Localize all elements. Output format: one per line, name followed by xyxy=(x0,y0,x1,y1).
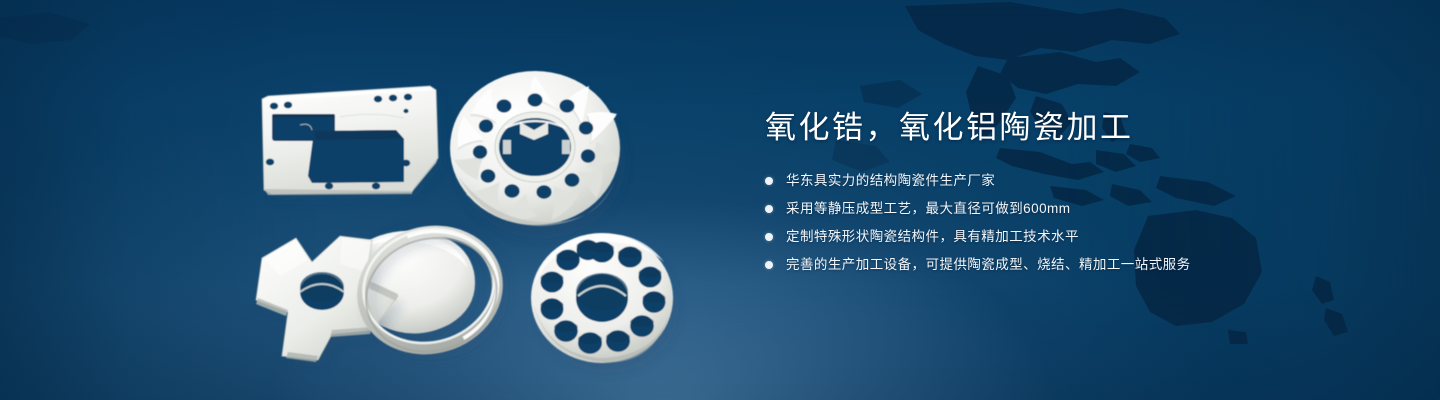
ceramic-flat-plate xyxy=(262,86,443,201)
list-item-label: 采用等静压成型工艺，最大直径可做到600mm xyxy=(786,201,1070,216)
list-item-label: 完善的生产加工设备，可提供陶瓷成型、烧结、精加工一站式服务 xyxy=(786,257,1191,272)
bullet-dot-icon xyxy=(765,233,773,241)
ceramic-parts-group xyxy=(0,0,740,400)
ceramic-hole-ring-plate xyxy=(531,233,680,375)
page-title: 氧化锆，氧化铝陶瓷加工 xyxy=(765,108,1365,148)
list-item-label: 定制特殊形状陶瓷结构件，具有精加工技术水平 xyxy=(786,229,1079,244)
list-item: 定制特殊形状陶瓷结构件，具有精加工技术水平 xyxy=(765,226,1365,248)
list-item: 完善的生产加工设备，可提供陶瓷成型、烧结、精加工一站式服务 xyxy=(765,254,1365,276)
list-item: 采用等静压成型工艺，最大直径可做到600mm xyxy=(765,198,1365,220)
feature-list: 华东具实力的结构陶瓷件生产厂家 采用等静压成型工艺，最大直径可做到600mm 定… xyxy=(765,170,1365,276)
bullet-dot-icon xyxy=(765,177,773,185)
ceramic-impeller-disc xyxy=(450,71,627,240)
bullet-dot-icon xyxy=(765,205,773,213)
list-item-label: 华东具实力的结构陶瓷件生产厂家 xyxy=(786,173,995,188)
banner-copy: 氧化锆，氧化铝陶瓷加工 华东具实力的结构陶瓷件生产厂家 采用等静压成型工艺，最大… xyxy=(765,108,1365,276)
ceramic-processing-banner: 氧化锆，氧化铝陶瓷加工 华东具实力的结构陶瓷件生产厂家 采用等静压成型工艺，最大… xyxy=(0,0,1440,400)
list-item: 华东具实力的结构陶瓷件生产厂家 xyxy=(765,170,1365,192)
bullet-dot-icon xyxy=(765,261,773,269)
